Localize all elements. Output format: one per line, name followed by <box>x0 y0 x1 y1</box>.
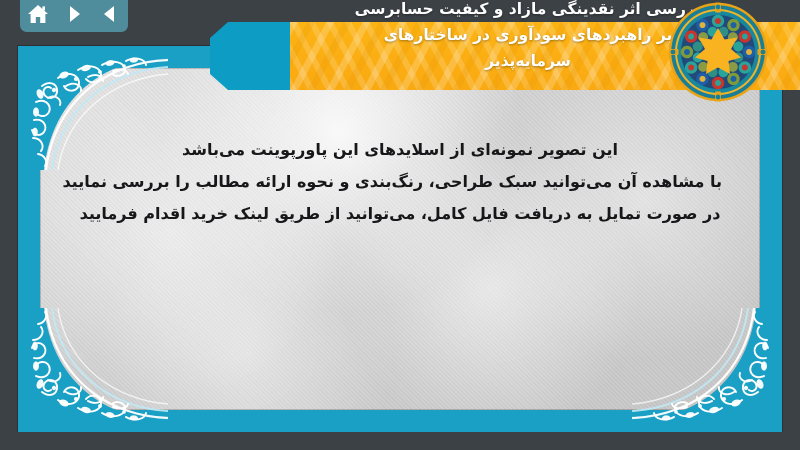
body-line-3: در صورت تمایل به دریافت فایل کامل، می‌تو… <box>78 198 722 230</box>
slide-body-text: این تصویر نمونه‌ای از اسلایدهای این پاور… <box>78 134 722 230</box>
slide-viewer: این تصویر نمونه‌ای از اسلایدهای این پاور… <box>0 0 800 450</box>
navigation-toolbar <box>20 0 128 32</box>
body-line-2: با مشاهده آن می‌توانید سبک طراحی، رنگ‌بن… <box>78 166 722 198</box>
slide-canvas: این تصویر نمونه‌ای از اسلایدهای این پاور… <box>18 46 782 432</box>
home-button[interactable] <box>25 1 51 27</box>
arabesque-corner-icon <box>632 308 782 432</box>
viewer-bottom-strip <box>0 432 800 450</box>
next-slide-button[interactable] <box>61 1 87 27</box>
previous-slide-button[interactable] <box>97 1 123 27</box>
body-line-1: این تصویر نمونه‌ای از اسلایدهای این پاور… <box>78 134 722 166</box>
slide-teal-frame <box>18 46 782 432</box>
arabesque-corner-icon <box>18 308 168 432</box>
slide-inner-border <box>40 68 760 410</box>
